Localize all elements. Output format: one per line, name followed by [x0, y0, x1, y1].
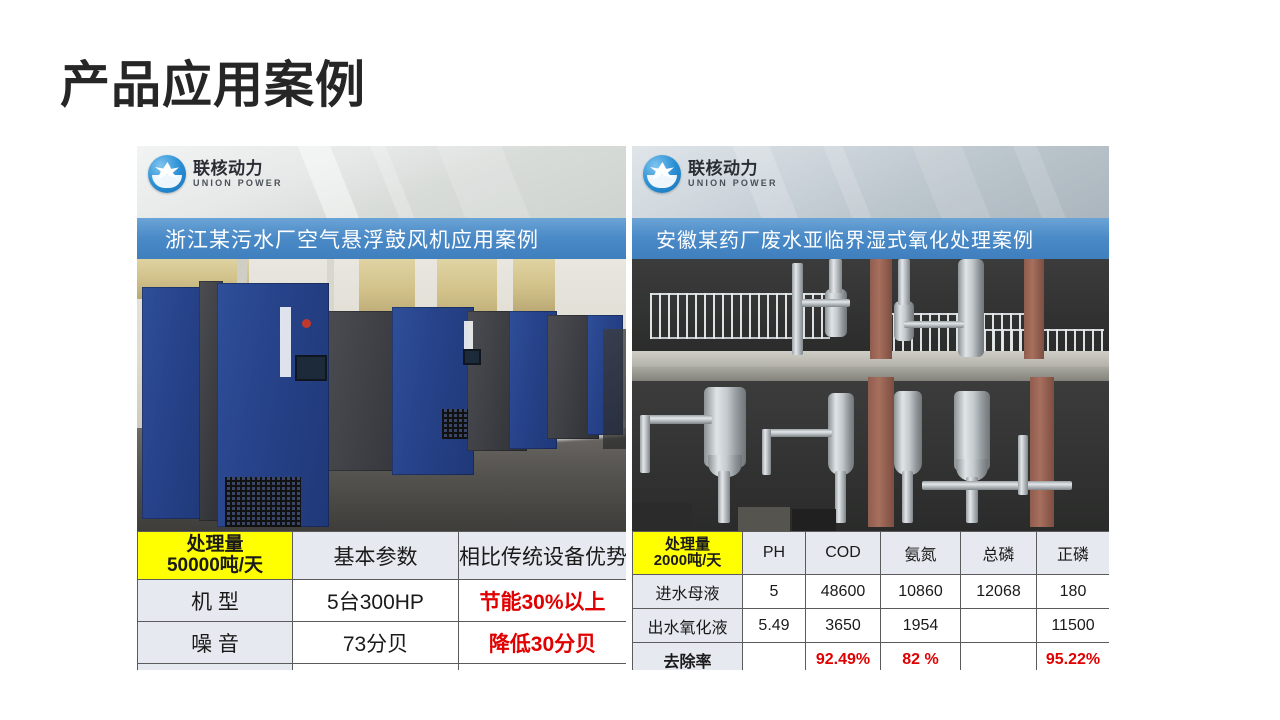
cell-effluent-ph: 5.49 — [743, 609, 806, 643]
brand-name-cn: 联核动力 — [688, 160, 778, 177]
row-label-noise: 噪 音 — [138, 622, 293, 664]
table-row: 进水母液 5 48600 10860 12068 180 — [633, 575, 1110, 609]
union-power-logo-icon — [643, 155, 681, 193]
table-header-row: 处理量 2000吨/天 PH COD 氨氮 总磷 正磷 — [633, 532, 1110, 575]
cell-effluent-total-p — [961, 609, 1037, 643]
cell-influent-ph: 5 — [743, 575, 806, 609]
column-header-ph: PH — [743, 532, 806, 575]
case-banner-right: 安徽某药厂废水亚临界湿式氧化处理案例 — [632, 218, 1109, 259]
case-photo-left: 联核动力 UNION POWER 浙江某污水厂空气悬浮鼓风机应用案例 — [137, 146, 626, 531]
cell-influent-cod: 48600 — [806, 575, 881, 609]
brand-name-en: UNION POWER — [688, 179, 778, 188]
page-title: 产品应用案例 — [60, 58, 366, 113]
cell-effluent-cod: 3650 — [806, 609, 881, 643]
cell-removal-ph — [743, 643, 806, 671]
throughput-header-cell: 处理量 50000吨/天 — [138, 532, 293, 580]
cell-influent-ortho-p: 180 — [1037, 575, 1110, 609]
throughput-header-cell: 处理量 2000吨/天 — [633, 532, 743, 575]
cell-removal-ortho-p: 95.22% — [1037, 643, 1110, 671]
cell-removal-ammonia: 82 % — [881, 643, 961, 671]
throughput-label: 处理量 — [633, 537, 742, 553]
table-row: 噪 音 73分贝 降低30分贝 — [138, 622, 627, 664]
table-row: 去除率 92.49% 82 % 95.22% — [633, 643, 1110, 671]
throughput-label: 处理量 — [138, 535, 292, 556]
row-label-removal-rate: 去除率 — [633, 643, 743, 671]
row-label-influent: 进水母液 — [633, 575, 743, 609]
column-header-basic-params: 基本参数 — [293, 532, 459, 580]
cell-model-value: 5台300HP — [293, 580, 459, 622]
brand-name-en: UNION POWER — [193, 179, 283, 188]
table-row: 机 型 5台300HP 节能30%以上 — [138, 580, 627, 622]
wet-oxidation-plant-photo — [632, 259, 1109, 531]
column-header-cod: COD — [806, 532, 881, 575]
cell-effluent-ammonia: 1954 — [881, 609, 961, 643]
cell-model-advantage: 节能30%以上 — [459, 580, 627, 622]
table-row: 出水氧化液 5.49 3650 1954 11500 — [633, 609, 1110, 643]
brand-logo-right: 联核动力 UNION POWER — [643, 155, 778, 193]
row-label-model: 机 型 — [138, 580, 293, 622]
throughput-value: 2000吨/天 — [633, 553, 742, 569]
case-table-right: 处理量 2000吨/天 PH COD 氨氮 总磷 正磷 进水母液 5 48600… — [632, 531, 1109, 670]
case-photo-right: 联核动力 UNION POWER 安徽某药厂废水亚临界湿式氧化处理案例 — [632, 146, 1109, 531]
case-banner-left-text: 浙江某污水厂空气悬浮鼓风机应用案例 — [137, 224, 539, 254]
cell-oil-value: 系统无油 — [293, 664, 459, 671]
column-header-ammonia-nitrogen: 氨氮 — [881, 532, 961, 575]
column-header-total-phosphorus: 总磷 — [961, 532, 1037, 575]
cell-oil-advantage: 没有油污染 — [459, 664, 627, 671]
throughput-value: 50000吨/天 — [138, 556, 292, 577]
table-row: 油污染 系统无油 没有油污染 — [138, 664, 627, 671]
table-header-row: 处理量 50000吨/天 基本参数 相比传统设备优势 — [138, 532, 627, 580]
cell-effluent-ortho-p: 11500 — [1037, 609, 1110, 643]
column-header-advantage: 相比传统设备优势 — [459, 532, 627, 580]
cell-removal-total-p — [961, 643, 1037, 671]
row-label-oil: 油污染 — [138, 664, 293, 671]
cell-influent-total-p: 12068 — [961, 575, 1037, 609]
row-label-effluent: 出水氧化液 — [633, 609, 743, 643]
blower-room-photo — [137, 259, 626, 531]
case-table-left: 处理量 50000吨/天 基本参数 相比传统设备优势 机 型 5台300HP 节… — [137, 531, 626, 670]
case-panel-left: 联核动力 UNION POWER 浙江某污水厂空气悬浮鼓风机应用案例 — [137, 146, 626, 670]
cell-removal-cod: 92.49% — [806, 643, 881, 671]
column-header-ortho-phosphate: 正磷 — [1037, 532, 1110, 575]
brand-logo-left: 联核动力 UNION POWER — [148, 155, 283, 193]
brand-name-cn: 联核动力 — [193, 160, 283, 177]
union-power-logo-icon — [148, 155, 186, 193]
cell-noise-value: 73分贝 — [293, 622, 459, 664]
cell-noise-advantage: 降低30分贝 — [459, 622, 627, 664]
cell-influent-ammonia: 10860 — [881, 575, 961, 609]
case-panel-right: 联核动力 UNION POWER 安徽某药厂废水亚临界湿式氧化处理案例 — [632, 146, 1109, 670]
case-banner-right-text: 安徽某药厂废水亚临界湿式氧化处理案例 — [632, 224, 1034, 253]
case-banner-left: 浙江某污水厂空气悬浮鼓风机应用案例 — [137, 218, 626, 259]
